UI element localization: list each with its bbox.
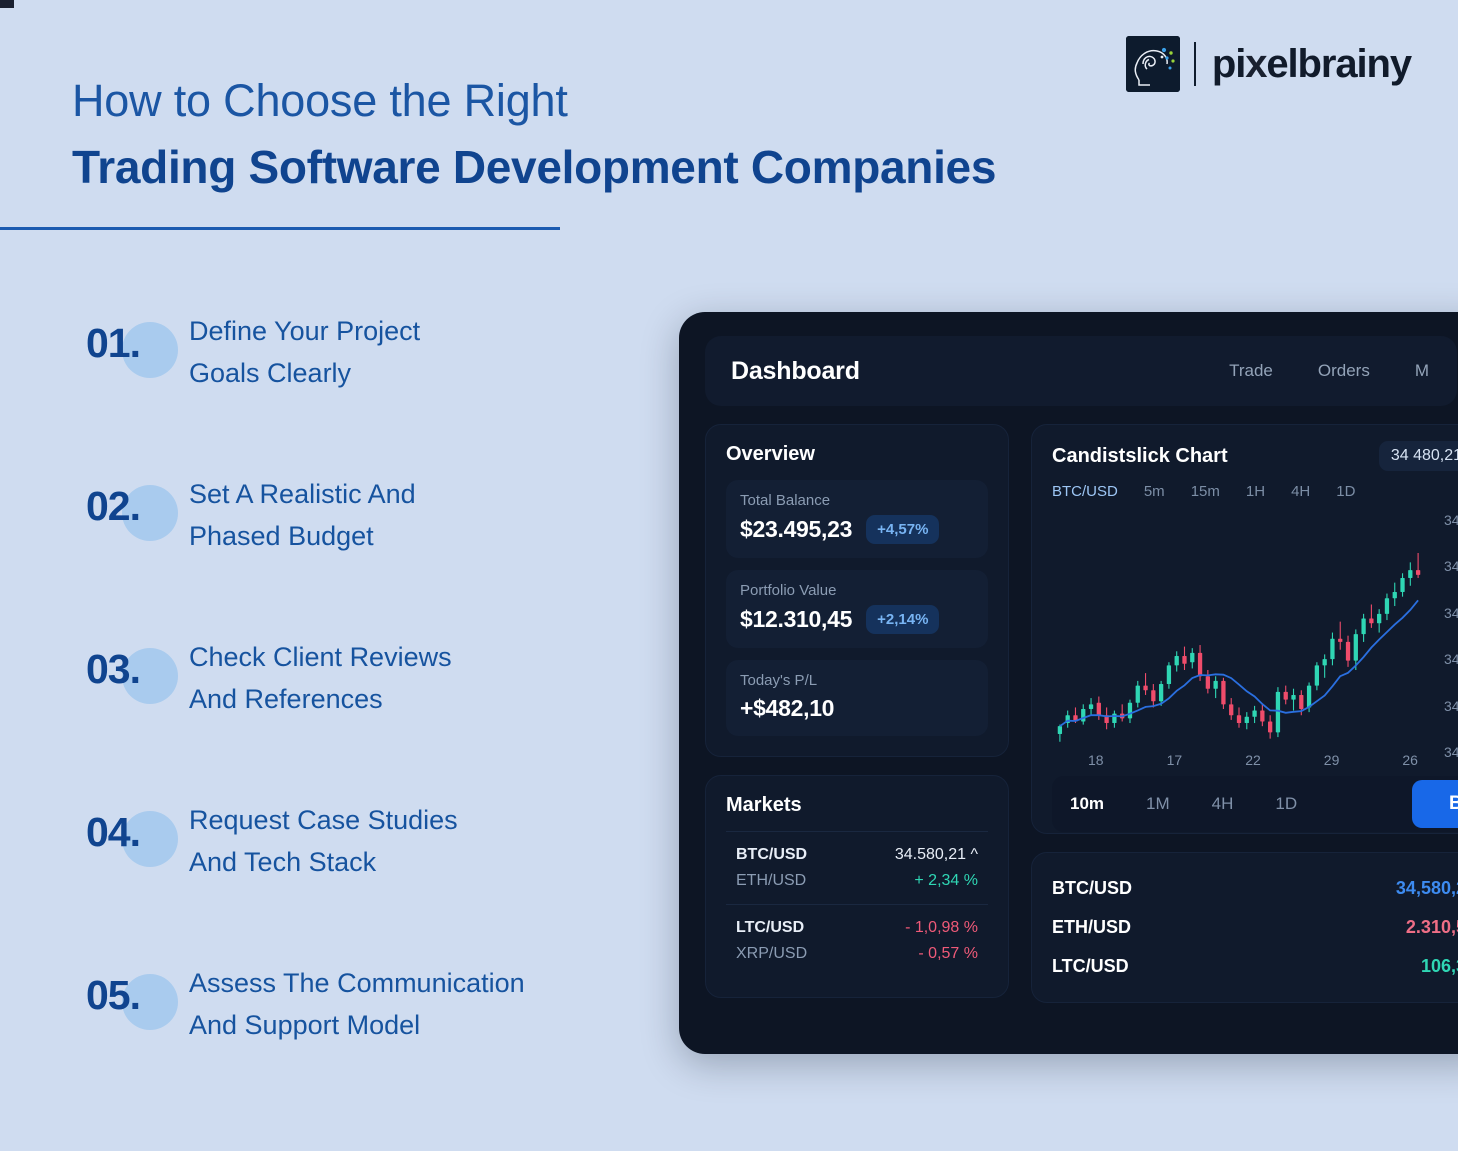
chart-header: Candistslick Chart 34 480,21 ^ xyxy=(1052,441,1458,471)
step-number: 04. xyxy=(84,812,140,853)
status-badge: +2,14% xyxy=(866,605,939,634)
overview-card: Overview Total Balance $23.495,23 +4,57%… xyxy=(705,424,1009,757)
y-tick: 34,30 xyxy=(1444,605,1458,621)
market-symbol: ETH/USD xyxy=(736,872,806,890)
stat-total-balance: Total Balance $23.495,23 +4,57% xyxy=(726,480,988,558)
candlestick-chart-card: Candistslick Chart 34 480,21 ^ BTC/USD 5… xyxy=(1031,424,1458,834)
price-list-card: BTC/USD 34,580,21 ETH/USD 2.310,57 LTC/U… xyxy=(1031,852,1458,1003)
y-tick: 34,28 xyxy=(1444,651,1458,667)
list-item: 02. Set A Realistic And Phased Budget xyxy=(84,467,644,630)
market-value: 34.580,21 ^ xyxy=(895,846,978,864)
table-row[interactable]: ETH/USD + 2,34 % xyxy=(730,868,984,894)
footer-tab-10m[interactable]: 10m xyxy=(1070,794,1104,814)
y-tick: 34,48 xyxy=(1444,558,1458,574)
list-item: 03. Check Client Reviews And References xyxy=(84,630,644,793)
logo-divider xyxy=(1194,42,1196,86)
title-line-2: Trading Software Development Companies xyxy=(72,139,1172,195)
dashboard-right-column: Candistslick Chart 34 480,21 ^ BTC/USD 5… xyxy=(1031,424,1458,1003)
overview-title: Overview xyxy=(726,443,988,466)
chart-footer-controls: 10m 1M 4H 1D Buy xyxy=(1052,776,1458,832)
tab-1h[interactable]: 1H xyxy=(1246,483,1265,500)
x-tick: 29 xyxy=(1324,752,1340,768)
table-row[interactable]: LTC/USD - 1,0,98 % xyxy=(730,915,984,941)
price-symbol: LTC/USD xyxy=(1052,956,1129,977)
chart-y-axis: 34,50 34,48 34,30 34,28 34,23 34,24 xyxy=(1444,512,1458,760)
market-symbol: LTC/USD xyxy=(736,919,804,937)
footer-tab-1m[interactable]: 1M xyxy=(1146,794,1170,814)
footer-tab-4h[interactable]: 4H xyxy=(1212,794,1234,814)
steps-list: 01. Define Your Project Goals Clearly 02… xyxy=(84,304,644,1119)
stat-value: $23.495,23 xyxy=(740,516,852,543)
status-badge: +4,57% xyxy=(866,515,939,544)
brand-name-part2: elbrainy xyxy=(1266,42,1411,86)
stat-label: Total Balance xyxy=(740,492,974,509)
price-symbol: BTC/USD xyxy=(1052,878,1132,899)
step-number-wrap: 03. xyxy=(84,630,189,708)
chart-title: Candistslick Chart xyxy=(1052,445,1228,468)
tab-1d[interactable]: 1D xyxy=(1336,483,1355,500)
x-tick: 17 xyxy=(1167,752,1183,768)
tab-4h[interactable]: 4H xyxy=(1291,483,1310,500)
chart-timeframe-tabs: BTC/USD 5m 15m 1H 4H 1D xyxy=(1052,483,1458,500)
markets-group: LTC/USD - 1,0,98 % XRP/USD - 0,57 % xyxy=(726,904,988,977)
buy-button[interactable]: Buy xyxy=(1412,780,1458,828)
nav-item-markets[interactable]: M xyxy=(1415,361,1429,381)
step-number-wrap: 01. xyxy=(84,304,189,382)
markets-card: Markets BTC/USD 34.580,21 ^ ETH/USD + 2,… xyxy=(705,775,1009,998)
stat-row: +$482,10 xyxy=(740,695,974,722)
page-title: How to Choose the Right Trading Software… xyxy=(72,74,1172,195)
markets-group: BTC/USD 34.580,21 ^ ETH/USD + 2,34 % xyxy=(726,831,988,904)
dashboard-title: Dashboard xyxy=(731,357,860,386)
stat-label: Portfolio Value xyxy=(740,582,974,599)
y-tick: 34,50 xyxy=(1444,512,1458,528)
brand-name-x: x xyxy=(1245,42,1266,86)
market-value: - 1,0,98 % xyxy=(905,919,978,937)
market-symbol: XRP/USD xyxy=(736,945,807,963)
brand-name: pixelbrainy xyxy=(1212,44,1411,84)
x-tick: 26 xyxy=(1402,752,1418,768)
table-row[interactable]: BTC/USD 34.580,21 ^ xyxy=(730,842,984,868)
title-line-1: How to Choose the Right xyxy=(72,74,1172,127)
market-value: + 2,34 % xyxy=(914,872,978,890)
x-tick: 18 xyxy=(1088,752,1104,768)
stat-portfolio-value: Portfolio Value $12.310,45 +2,14% xyxy=(726,570,988,648)
step-number-wrap: 05. xyxy=(84,956,189,1034)
y-tick: 34,23 xyxy=(1444,698,1458,714)
list-item: 05. Assess The Communication And Support… xyxy=(84,956,644,1119)
footer-tab-1d[interactable]: 1D xyxy=(1275,794,1297,814)
stat-value: $12.310,45 xyxy=(740,606,852,633)
step-label: Assess The Communication And Support Mod… xyxy=(189,956,525,1046)
dashboard-grid: Overview Total Balance $23.495,23 +4,57%… xyxy=(705,424,1458,1003)
price-symbol: ETH/USD xyxy=(1052,917,1131,938)
step-number-wrap: 02. xyxy=(84,467,189,545)
tab-5m[interactable]: 5m xyxy=(1144,483,1165,500)
dashboard-topbar: Dashboard Trade Orders M xyxy=(705,336,1457,406)
corner-artifact xyxy=(0,0,14,8)
chart-price-badge: 34 480,21 ^ xyxy=(1379,441,1458,471)
chart-x-axis: 18 17 22 29 26 xyxy=(1088,752,1418,768)
dashboard-left-column: Overview Total Balance $23.495,23 +4,57%… xyxy=(705,424,1009,1003)
market-symbol: BTC/USD xyxy=(736,846,807,864)
dashboard-nav: Trade Orders M xyxy=(1229,361,1431,381)
brain-head-icon xyxy=(1126,36,1180,92)
step-number: 02. xyxy=(84,486,140,527)
table-row[interactable]: ETH/USD 2.310,57 xyxy=(1052,908,1458,947)
list-item: 04. Request Case Studies And Tech Stack xyxy=(84,793,644,956)
step-number-wrap: 04. xyxy=(84,793,189,871)
stat-label: Today's P/L xyxy=(740,672,974,689)
price-value: 106,32 xyxy=(1421,956,1458,977)
candlestick-svg xyxy=(1052,506,1432,756)
brand-name-part1: pi xyxy=(1212,42,1245,86)
price-value: 34,580,21 xyxy=(1396,878,1458,899)
table-row[interactable]: LTC/USD 106,32 xyxy=(1052,947,1458,986)
step-label: Define Your Project Goals Clearly xyxy=(189,304,420,394)
tab-btcusd[interactable]: BTC/USD xyxy=(1052,483,1118,500)
table-row[interactable]: BTC/USD 34,580,21 xyxy=(1052,869,1458,908)
stat-row: $12.310,45 +2,14% xyxy=(740,605,974,634)
stat-row: $23.495,23 +4,57% xyxy=(740,515,974,544)
step-number: 03. xyxy=(84,649,140,690)
nav-item-trade[interactable]: Trade xyxy=(1229,361,1273,381)
chart-plot-area: 34,50 34,48 34,30 34,28 34,23 34,24 18 1… xyxy=(1052,506,1458,764)
market-value: - 0,57 % xyxy=(918,945,978,963)
nav-item-orders[interactable]: Orders xyxy=(1318,361,1370,381)
markets-title: Markets xyxy=(726,794,988,817)
price-value: 2.310,57 xyxy=(1406,917,1458,938)
step-label: Request Case Studies And Tech Stack xyxy=(189,793,458,883)
stat-todays-pl: Today's P/L +$482,10 xyxy=(726,660,988,736)
step-label: Set A Realistic And Phased Budget xyxy=(189,467,416,557)
brand-logo: pixelbrainy xyxy=(1126,33,1411,95)
title-divider xyxy=(0,227,560,230)
step-number: 05. xyxy=(84,975,140,1016)
trading-dashboard-mockup: Dashboard Trade Orders M Overview Total … xyxy=(679,312,1458,1054)
tab-15m[interactable]: 15m xyxy=(1191,483,1220,500)
list-item: 01. Define Your Project Goals Clearly xyxy=(84,304,644,467)
x-tick: 22 xyxy=(1245,752,1261,768)
step-label: Check Client Reviews And References xyxy=(189,630,452,720)
y-tick: 34,24 xyxy=(1444,744,1458,760)
step-number: 01. xyxy=(84,323,140,364)
stat-value: +$482,10 xyxy=(740,695,834,722)
table-row[interactable]: XRP/USD - 0,57 % xyxy=(730,941,984,967)
